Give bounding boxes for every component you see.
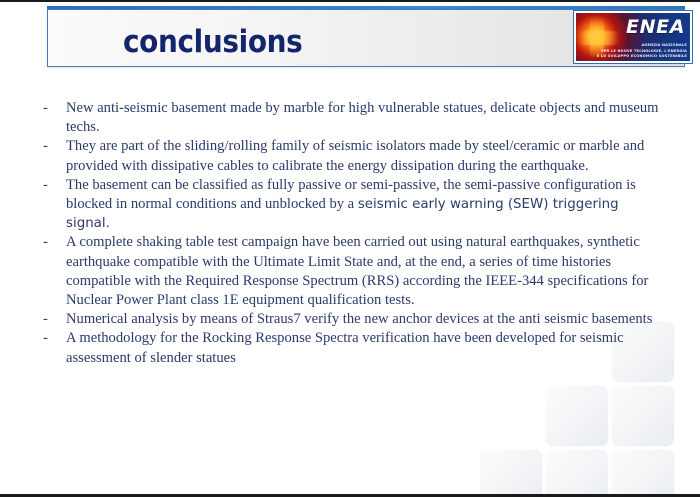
bullet-text: They are part of the sliding/rolling fam… <box>66 137 661 175</box>
list-item: - Numerical analysis by means of Straus7… <box>36 310 661 329</box>
bullet-text: The basement can be classified as fully … <box>66 176 661 234</box>
list-item: - New anti-seismic basement made by marb… <box>36 99 661 137</box>
decorative-square <box>546 386 608 446</box>
decorative-square <box>612 386 674 446</box>
bullet-marker: - <box>36 99 66 118</box>
bullet-text: A methodology for the Rocking Response S… <box>66 329 661 367</box>
conclusions-bullet-list: - New anti-seismic basement made by marb… <box>36 99 661 368</box>
decorative-square <box>612 450 674 497</box>
bullet-marker: - <box>36 176 66 195</box>
decorative-square <box>546 450 608 497</box>
bullet-marker: - <box>36 329 66 348</box>
bullet-text: New anti-seismic basement made by marble… <box>66 99 661 137</box>
list-item: - The basement can be classified as full… <box>36 176 661 234</box>
enea-tagline-line-3: E LO SVILUPPO ECONOMICO SOSTENIBILE <box>578 54 687 59</box>
bullet-marker: - <box>36 310 66 329</box>
slide-canvas: conclusions ENEA AGENZIA NAZIONALE PER L… <box>0 0 700 497</box>
bullet-marker: - <box>36 233 66 252</box>
bullet-text: A complete shaking table test campaign h… <box>66 233 661 310</box>
list-item: - A complete shaking table test campaign… <box>36 233 661 310</box>
list-item: - A methodology for the Rocking Response… <box>36 329 661 367</box>
bullet-marker: - <box>36 137 66 156</box>
enea-logo: ENEA AGENZIA NAZIONALE PER LE NUOVE TECN… <box>574 11 692 63</box>
list-item: - They are part of the sliding/rolling f… <box>36 137 661 175</box>
enea-tagline: AGENZIA NAZIONALE PER LE NUOVE TECNOLOGI… <box>578 43 687 59</box>
bullet-text: Numerical analysis by means of Straus7 v… <box>66 310 661 329</box>
decorative-square <box>480 450 542 497</box>
enea-wordmark: ENEA <box>626 18 685 37</box>
page-title: conclusions <box>123 27 302 58</box>
